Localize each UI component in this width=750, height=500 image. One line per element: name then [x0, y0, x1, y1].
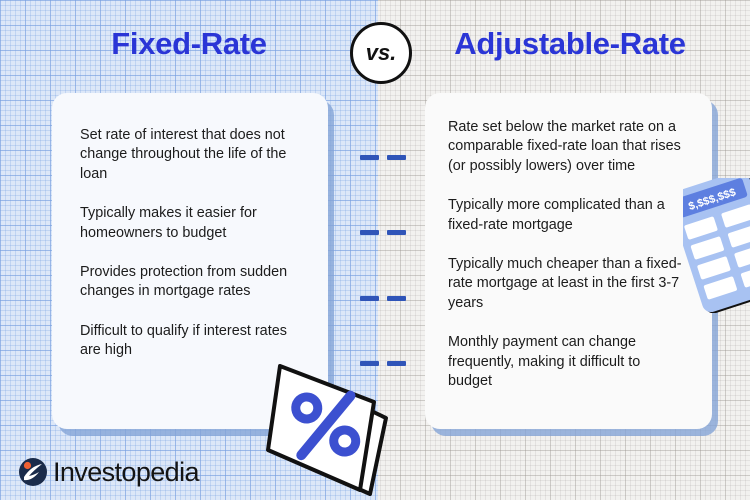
list-item: Typically makes it easier for homeowners… — [80, 204, 302, 243]
divider-dash — [387, 155, 406, 160]
divider-dash-row — [360, 296, 406, 301]
divider-dash-row — [360, 230, 406, 235]
vs-badge: vs. — [350, 22, 412, 84]
heading-fixed-rate: Fixed-Rate — [0, 26, 378, 62]
list-item: Rate set below the market rate on a comp… — [448, 118, 688, 176]
list-adjustable-rate: Rate set below the market rate on a comp… — [448, 118, 688, 391]
divider-dash — [387, 296, 406, 301]
list-item: Provides protection from sudden changes … — [80, 263, 302, 302]
investopedia-wordmark: Investopedia — [53, 459, 199, 486]
infographic-canvas: Fixed-Rate Adjustable-Rate vs. Set rate … — [0, 0, 750, 500]
divider-dash — [360, 155, 379, 160]
divider-dash — [360, 296, 379, 301]
divider-dash — [387, 230, 406, 235]
list-fixed-rate: Set rate of interest that does not chang… — [80, 126, 302, 361]
divider-dash-row — [360, 155, 406, 160]
list-item: Typically much cheaper than a fixed-rate… — [448, 255, 688, 313]
list-item: Monthly payment can change frequently, m… — [448, 333, 688, 391]
list-item: Difficult to qualify if interest rates a… — [80, 322, 302, 361]
percent-icon — [262, 358, 412, 500]
list-item: Set rate of interest that does not chang… — [80, 126, 302, 184]
divider-dash — [360, 230, 379, 235]
investopedia-mark-icon — [18, 457, 48, 487]
heading-adjustable-rate: Adjustable-Rate — [405, 26, 735, 62]
calculator-icon: $,$$$,$$$ — [683, 178, 750, 313]
list-item: Typically more complicated than a fixed-… — [448, 196, 688, 235]
investopedia-logo: Investopedia — [18, 455, 199, 489]
